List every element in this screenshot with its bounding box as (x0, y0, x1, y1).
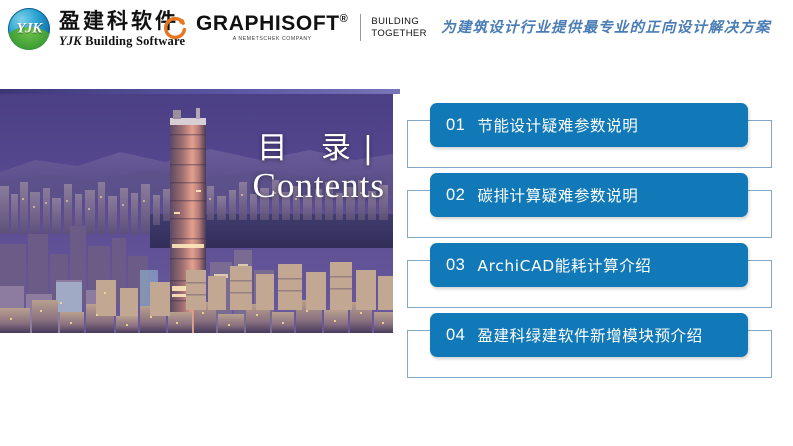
contents-item-02[interactable]: 02 碳排计算疑难参数说明 (407, 173, 777, 225)
contents-item-chip[interactable]: 02 碳排计算疑难参数说明 (430, 173, 748, 217)
yjk-mark-text: YJK (8, 21, 50, 38)
contents-item-label: 节能设计疑难参数说明 (477, 114, 638, 136)
contents-item-04[interactable]: 04 盈建科绿建软件新增模块预介绍 (407, 313, 777, 365)
contents-item-chip[interactable]: 04 盈建科绿建软件新增模块预介绍 (430, 313, 748, 357)
contents-item-03[interactable]: 03 ArchiCAD能耗计算介绍 (407, 243, 777, 295)
graphisoft-wordmark-text: GRAPHISOFT (196, 12, 340, 35)
globe-logo-icon: YJK (8, 8, 50, 50)
graphisoft-logo: GRAPHISOFT® A NEMETSCHEK COMPANY BUILDIN… (163, 13, 427, 42)
graphisoft-tagline: BUILDING TOGETHER (371, 16, 426, 39)
header-slogan: 为建筑设计行业提供最专业的正向设计解决方案 (430, 16, 782, 37)
contents-item-label: 盈建科绿建软件新增模块预介绍 (477, 324, 702, 346)
logo-divider (360, 14, 361, 41)
contents-item-index: 04 (446, 326, 465, 345)
page-header: YJK 盈建科软件 YJK Building Software GRAPHISO… (0, 0, 793, 90)
yjk-logo: YJK 盈建科软件 YJK Building Software (8, 8, 185, 50)
city-skyline-night-photo (0, 94, 393, 333)
contents-item-index: 01 (446, 116, 465, 135)
contents-item-chip[interactable]: 03 ArchiCAD能耗计算介绍 (430, 243, 748, 287)
contents-item-01[interactable]: 01 节能设计疑难参数说明 (407, 103, 777, 155)
tagline-line-2: TOGETHER (371, 28, 426, 40)
contents-item-label: ArchiCAD能耗计算介绍 (477, 254, 651, 276)
graphisoft-wordmark-block: GRAPHISOFT® A NEMETSCHEK COMPANY (196, 13, 348, 42)
cover-image: 目 录| Contents (0, 94, 393, 333)
graphisoft-swirl-icon (163, 16, 187, 40)
contents-item-index: 03 (446, 256, 465, 275)
contents-list: 01 节能设计疑难参数说明 02 碳排计算疑难参数说明 03 ArchiCAD能… (407, 103, 777, 383)
graphisoft-wordmark: GRAPHISOFT® (196, 13, 348, 34)
tagline-line-1: BUILDING (371, 16, 426, 28)
contents-item-chip[interactable]: 01 节能设计疑难参数说明 (430, 103, 748, 147)
registered-mark: ® (340, 13, 349, 25)
contents-item-index: 02 (446, 186, 465, 205)
yjk-name-en-abbr: YJK (59, 34, 82, 48)
contents-item-label: 碳排计算疑难参数说明 (477, 184, 638, 206)
graphisoft-subline: A NEMETSCHEK COMPANY (196, 36, 348, 42)
